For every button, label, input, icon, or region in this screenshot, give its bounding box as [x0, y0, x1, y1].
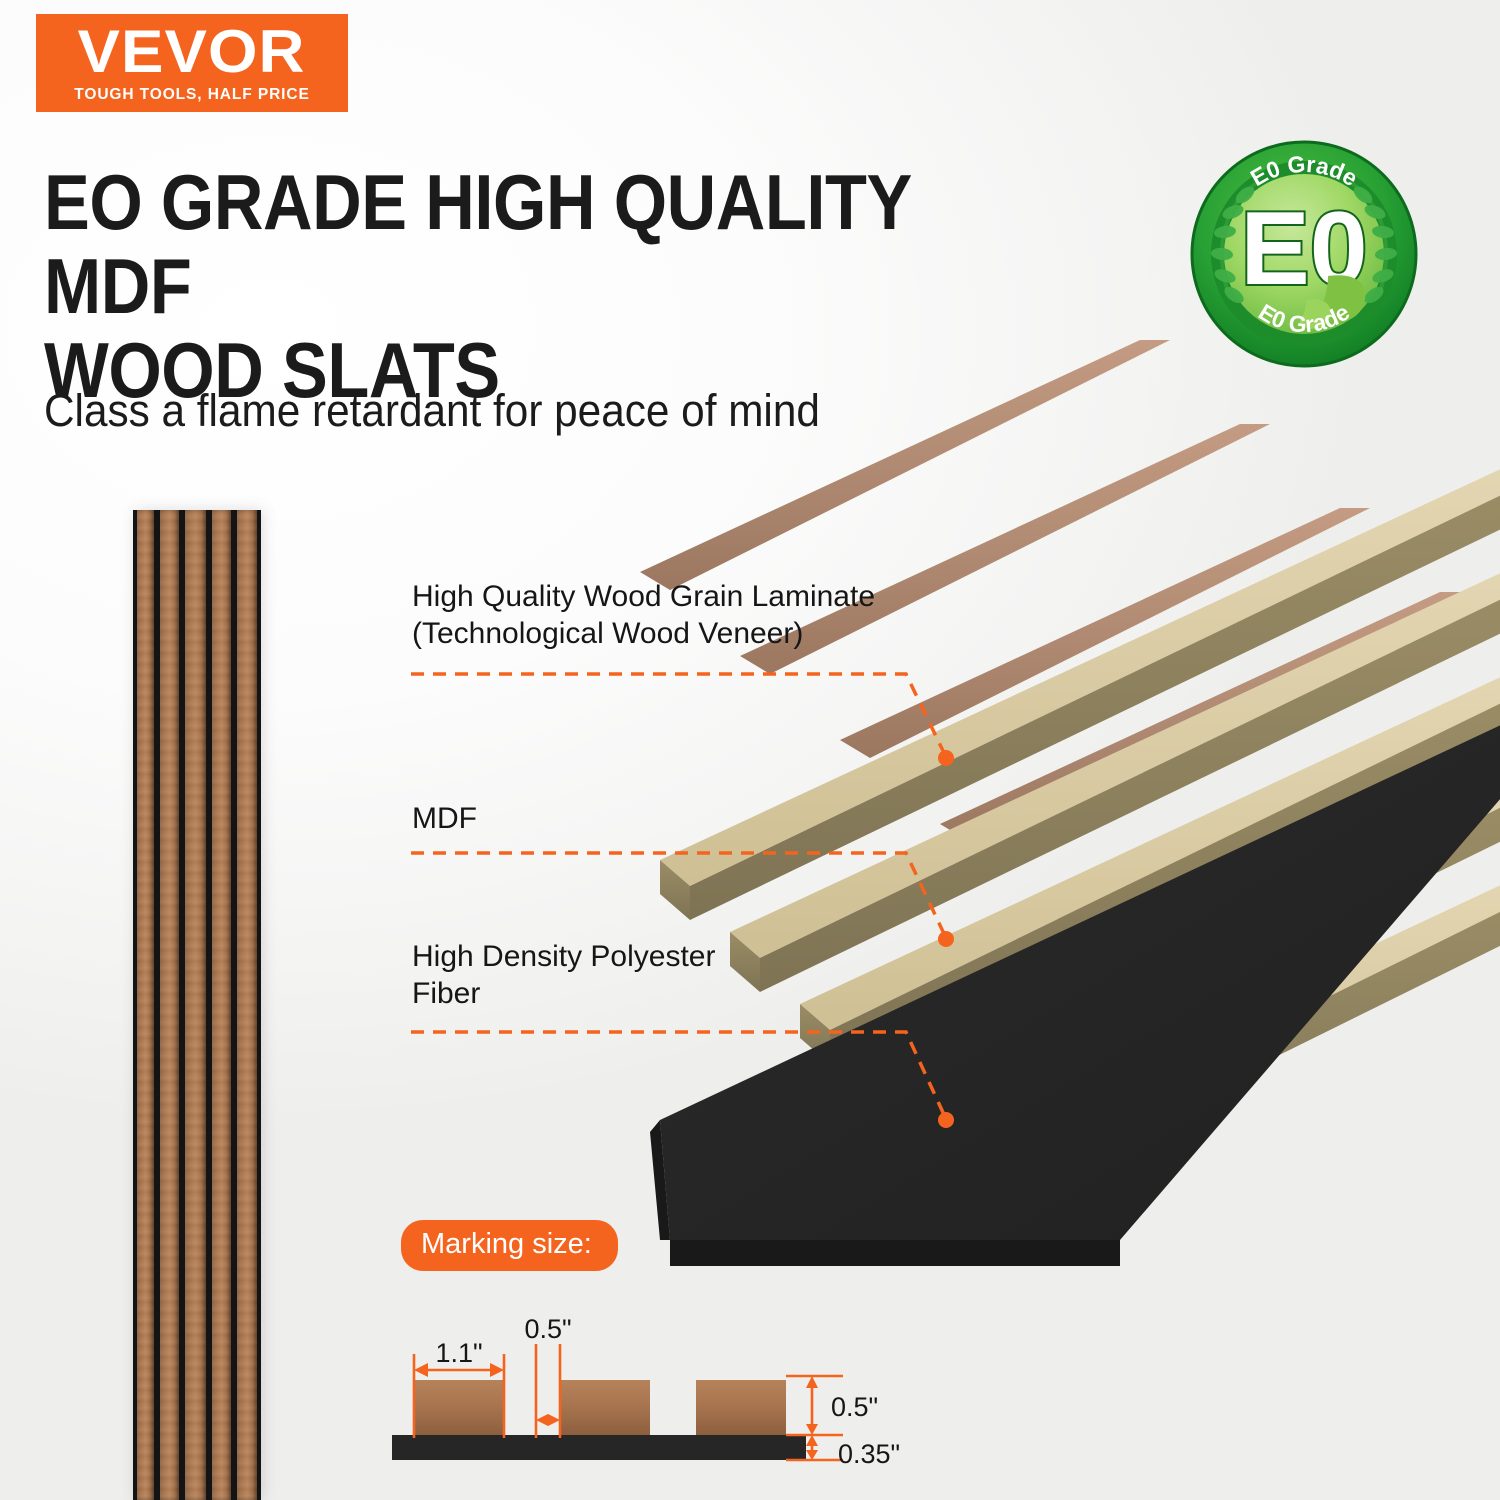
callout-fiber-line-2: Fiber	[412, 975, 812, 1012]
dim-label-gap-width: 0.5"	[524, 1314, 571, 1344]
callout-veneer: High Quality Wood Grain Laminate (Techno…	[412, 578, 952, 652]
callout-fiber-line-1: High Density Polyester	[412, 938, 812, 975]
dimension-diagram: 1.1" 0.5" 0.5" 0.35"	[388, 1318, 958, 1493]
panel-slat	[160, 510, 179, 1500]
dim-label-slat-height: 0.5"	[831, 1392, 878, 1422]
panel-slat	[185, 510, 206, 1500]
page-title: EO GRADE HIGH QUALITY MDF WOOD SLATS	[44, 160, 933, 412]
marking-size-label: Marking size:	[421, 1228, 592, 1260]
logo-tagline: TOUGH TOOLS, HALF PRICE	[74, 86, 309, 104]
callout-veneer-line-2: (Technological Wood Veneer)	[412, 615, 952, 652]
e0-grade-badge: E0 E0 Grade E0 Grade	[1188, 138, 1420, 370]
callout-mdf: MDF	[412, 800, 952, 837]
panel-slat	[237, 510, 257, 1500]
headline-line-1: EO GRADE HIGH QUALITY MDF	[44, 160, 933, 328]
wood-slat-panel-product	[133, 510, 261, 1500]
dim-label-base-thickness: 0.35"	[838, 1439, 900, 1469]
vevor-logo: VEVOR TOUGH TOOLS, HALF PRICE	[36, 14, 348, 112]
e0-grade-badge-icon: E0 E0 Grade E0 Grade	[1188, 138, 1420, 370]
infographic-page: VEVOR TOUGH TOOLS, HALF PRICE EO GRADE H…	[0, 0, 1500, 1500]
panel-slat	[137, 510, 154, 1500]
dim-label-slat-width: 1.1"	[435, 1338, 482, 1368]
dimension-base	[392, 1435, 806, 1460]
logo-wordmark: VEVOR	[78, 23, 306, 81]
page-subtitle: Class a flame retardant for peace of min…	[44, 385, 984, 437]
panel-slat	[212, 510, 231, 1500]
callout-fiber: High Density Polyester Fiber	[412, 938, 812, 1012]
callout-mdf-line-1: MDF	[412, 800, 952, 837]
dimension-slats	[414, 1380, 786, 1435]
callout-veneer-line-1: High Quality Wood Grain Laminate	[412, 578, 952, 615]
marking-size-badge: Marking size:	[401, 1220, 618, 1271]
